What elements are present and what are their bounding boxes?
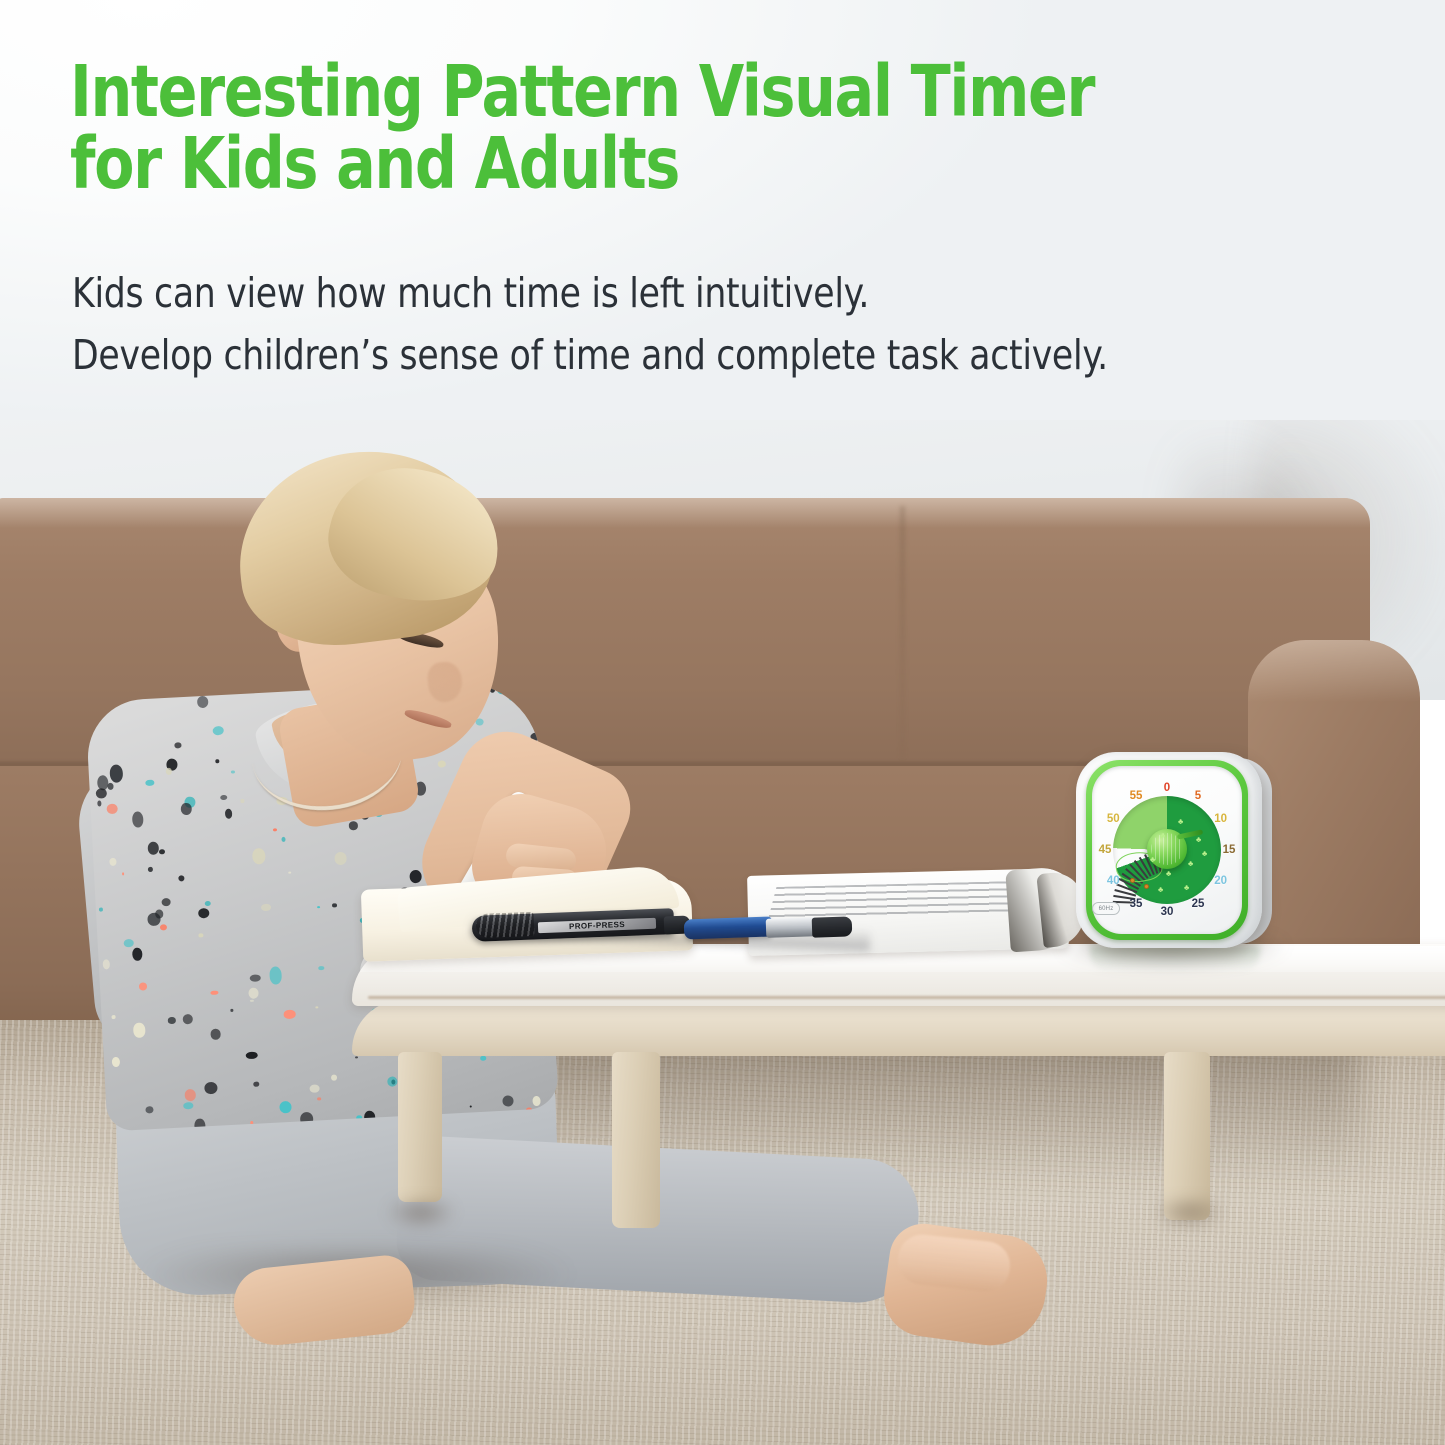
clover-motif: ♣ — [1202, 850, 1207, 858]
subtitle-line-2: Develop children’s sense of time and com… — [72, 334, 1341, 377]
dial-number-5: 5 — [1195, 790, 1201, 802]
timer-brand-badge: 60Hz — [1092, 902, 1120, 915]
dial-number-45: 45 — [1099, 844, 1112, 856]
dinosaur-dot-1 — [1130, 878, 1135, 883]
dial-number-25: 25 — [1192, 898, 1205, 910]
table-edge-line — [368, 996, 1445, 999]
dial-number-55: 55 — [1130, 790, 1143, 802]
subtitle-line-1: Kids can view how much time is left intu… — [72, 272, 1341, 315]
dial-number-30: 30 — [1161, 906, 1174, 918]
clover-motif: ♣ — [1166, 870, 1171, 878]
clover-motif: ♣ — [1196, 836, 1201, 844]
dial-number-50: 50 — [1107, 813, 1120, 825]
clover-motif: ♣ — [1188, 860, 1193, 868]
table-leg-shadow-1 — [386, 1200, 456, 1230]
open-book-text-lines — [768, 881, 1027, 921]
dinosaur-dot-2 — [1144, 884, 1149, 889]
dial-number-10: 10 — [1214, 813, 1227, 825]
shirt-paint-speck — [525, 710, 532, 715]
table-apron — [352, 1000, 1445, 1056]
clover-motif: ♣ — [1178, 818, 1183, 826]
dial-number-40: 40 — [1107, 875, 1120, 887]
table-leg-front-left — [398, 1052, 442, 1202]
page-title: Interesting Pattern Visual Timer for Kid… — [70, 56, 1284, 201]
dial-number-0: 0 — [1164, 782, 1170, 794]
dial-number-35: 35 — [1130, 898, 1143, 910]
clover-motif: ♣ — [1160, 832, 1165, 840]
dial-number-20: 20 — [1214, 875, 1227, 887]
table-leg-back-left — [612, 1052, 660, 1228]
dial-number-15: 15 — [1223, 844, 1236, 856]
table-leg-right — [1164, 1052, 1210, 1220]
headline-panel: Interesting Pattern Visual Timer for Kid… — [0, 0, 1445, 420]
clover-motif: ♣ — [1158, 886, 1163, 894]
clover-motif: ♣ — [1150, 856, 1155, 864]
timer-dial[interactable]: 0510152025303540455055♣♣♣♣♣♣♣♣♣ — [1100, 774, 1234, 926]
visual-timer-device[interactable]: 0510152025303540455055♣♣♣♣♣♣♣♣♣ 60Hz — [1076, 752, 1272, 952]
table-leg-shadow-2 — [1152, 1200, 1226, 1230]
product-banner: PROF-PRESS 0510152025303540455 — [0, 0, 1445, 1445]
clover-motif: ♣ — [1184, 884, 1189, 892]
